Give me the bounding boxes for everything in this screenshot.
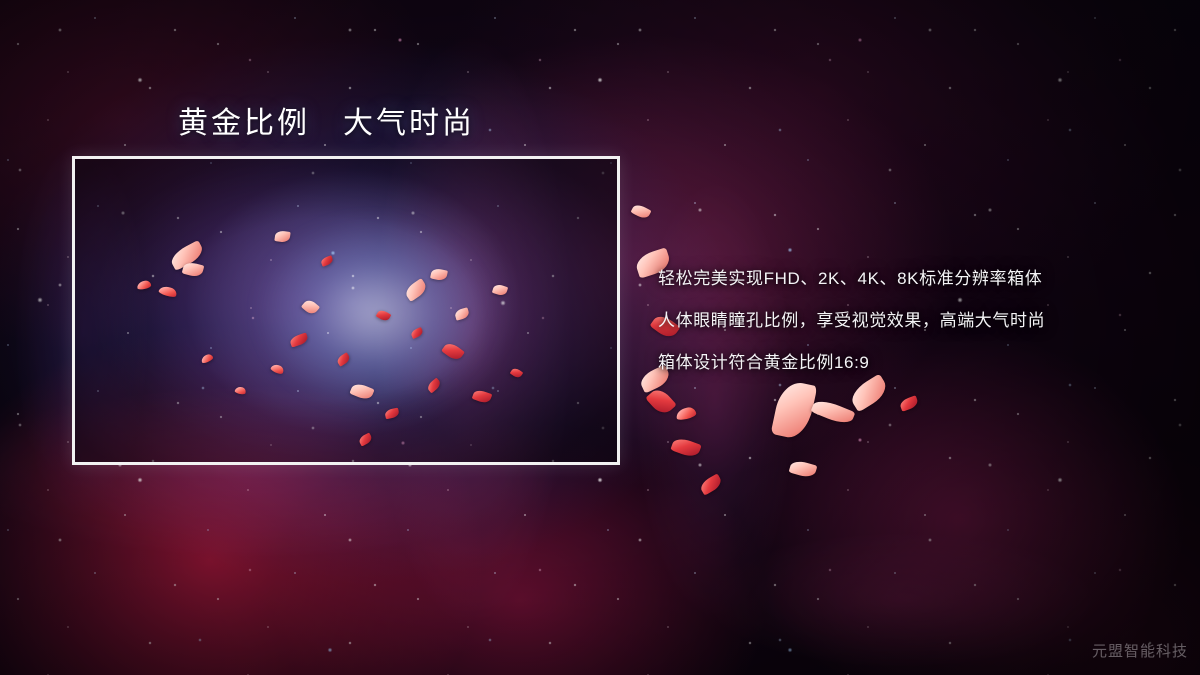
body-text-block: 轻松完美实现FHD、2K、4K、8K标准分辨率箱体 人体眼睛瞳孔比例，享受视觉效…: [658, 258, 1045, 384]
panel-image: [75, 159, 617, 462]
body-line-1: 轻松完美实现FHD、2K、4K、8K标准分辨率箱体: [658, 258, 1045, 300]
body-line-2: 人体眼睛瞳孔比例，享受视觉效果，高端大气时尚: [658, 300, 1045, 342]
panel-edge-shading: [75, 159, 617, 462]
presentation-slide: 黄金比例 大气时尚 轻松完美实现FHD、2K、4K、8K标准分辨率箱体 人体眼睛…: [0, 0, 1200, 675]
framed-image-panel: [72, 156, 620, 465]
watermark-text: 元盟智能科技: [1092, 640, 1188, 661]
body-line-3: 箱体设计符合黄金比例16:9: [658, 342, 1045, 384]
slide-title: 黄金比例 大气时尚: [178, 98, 475, 142]
